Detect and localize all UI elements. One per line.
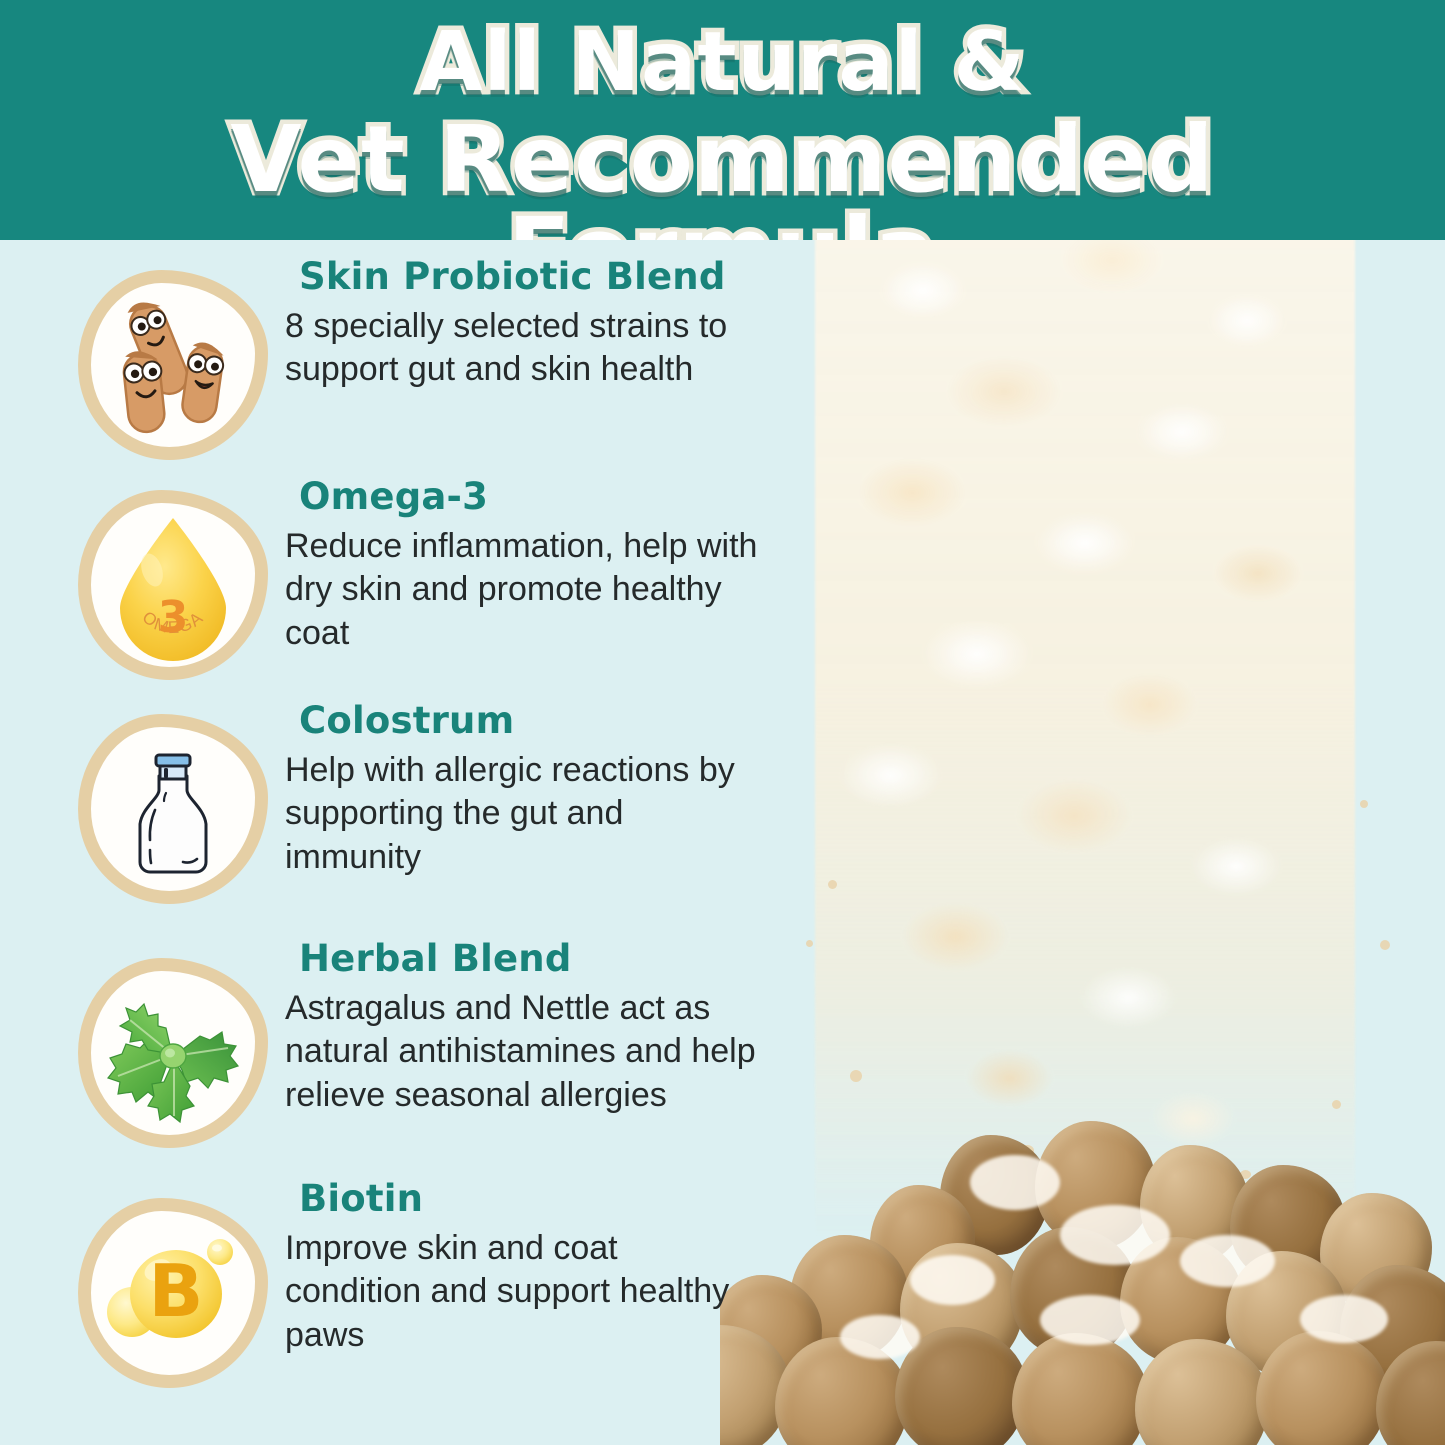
- powder-speck: [850, 1070, 862, 1082]
- omega-3-droplet-icon: OMEGA 3: [96, 508, 250, 662]
- feature-text-block: Skin Probiotic Blend 8 specially selecte…: [285, 258, 760, 392]
- feature-body: Help with allergic reactions by supporti…: [285, 749, 760, 880]
- biotin-letter: B: [149, 1249, 204, 1333]
- feature-text-block: Biotin Improve skin and coat condition a…: [285, 1180, 760, 1357]
- powder-speck: [1380, 940, 1390, 950]
- feature-title: Skin Probiotic Blend: [299, 258, 760, 297]
- feature-body: Astragalus and Nettle act as natural ant…: [285, 987, 760, 1118]
- feature-icon-badge: [78, 714, 268, 904]
- probiotic-bacteria-icon: [96, 288, 250, 442]
- feature-icon-badge: [78, 270, 268, 460]
- settled-dust: [840, 1315, 920, 1359]
- powder-speck: [828, 880, 837, 889]
- feature-text-block: Omega-3 Reduce inflammation, help with d…: [285, 478, 760, 655]
- feature-title: Colostrum: [299, 702, 760, 741]
- milk-bottle-icon: [96, 732, 250, 886]
- feature-body: Improve skin and coat condition and supp…: [285, 1227, 760, 1358]
- powder-speck: [1332, 1100, 1341, 1109]
- feature-title: Omega-3: [299, 478, 760, 517]
- banner-title-line-1: All Natural &: [0, 22, 1445, 104]
- feature-list: Skin Probiotic Blend 8 specially selecte…: [0, 240, 760, 1445]
- kibble-piece: [1012, 1333, 1148, 1445]
- settled-dust: [1300, 1295, 1388, 1343]
- product-infographic: All Natural & Vet Recommended Formula: [0, 0, 1445, 1445]
- feature-icon-badge: OMEGA 3: [78, 490, 268, 680]
- feature-body: 8 specially selected strains to support …: [285, 305, 760, 392]
- powder-speck: [1360, 800, 1368, 808]
- feature-icon-badge: B: [78, 1198, 268, 1388]
- kibble-powder-photo: [720, 240, 1445, 1445]
- feature-icon-badge: [78, 958, 268, 1148]
- omega-number: 3: [158, 592, 189, 643]
- nettle-leaf-icon: [96, 976, 250, 1130]
- feature-text-block: Colostrum Help with allergic reactions b…: [285, 702, 760, 879]
- settled-dust: [1060, 1205, 1170, 1265]
- feature-body: Reduce inflammation, help with dry skin …: [285, 525, 760, 656]
- falling-powder-stream: [815, 240, 1355, 1240]
- biotin-capsule-icon: B: [96, 1216, 250, 1370]
- feature-title: Biotin: [299, 1180, 760, 1219]
- powder-speck: [806, 940, 813, 947]
- feature-text-block: Herbal Blend Astragalus and Nettle act a…: [285, 940, 760, 1117]
- header-banner: All Natural & Vet Recommended Formula: [0, 0, 1445, 240]
- settled-dust: [1180, 1235, 1275, 1287]
- settled-dust: [970, 1155, 1060, 1210]
- settled-dust: [1040, 1295, 1140, 1345]
- kibble-pile: [720, 1115, 1445, 1445]
- settled-dust: [910, 1255, 995, 1305]
- banner-title-line-2: Vet Recommended Formula: [0, 114, 1445, 240]
- feature-title: Herbal Blend: [299, 940, 760, 979]
